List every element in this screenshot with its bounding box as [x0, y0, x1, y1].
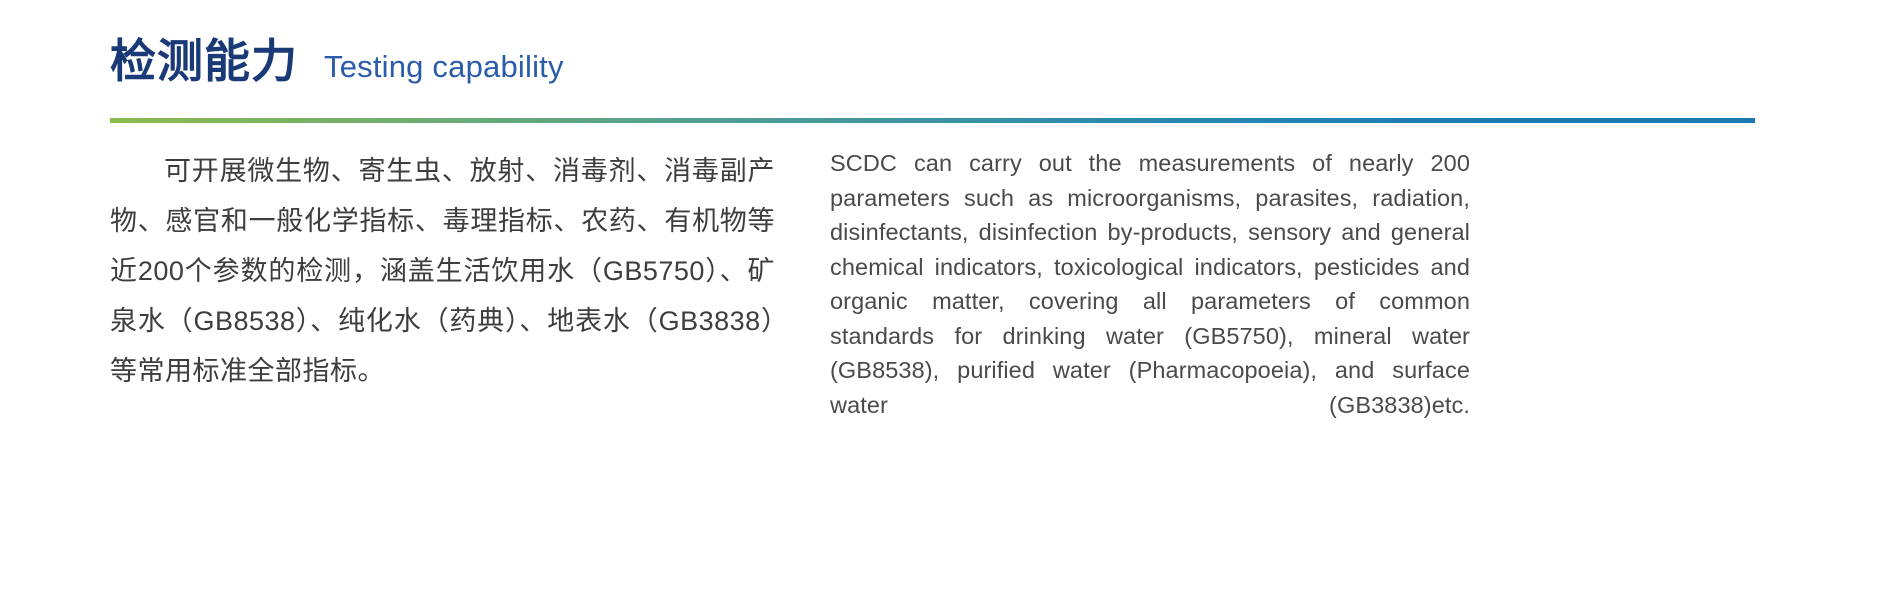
page-title-english: Testing capability: [324, 51, 564, 82]
content-columns: 可开展微生物、寄生虫、放射、消毒剂、消毒副产物、感官和一般化学指标、毒理指标、农…: [110, 146, 1780, 457]
body-paragraph-chinese: 可开展微生物、寄生虫、放射、消毒剂、消毒副产物、感官和一般化学指标、毒理指标、农…: [110, 146, 775, 396]
body-paragraph-english: SCDC can carry out the measurements of n…: [830, 146, 1470, 457]
page-title-chinese: 检测能力: [110, 38, 298, 84]
column-english: SCDC can carry out the measurements of n…: [830, 146, 1470, 457]
header-gradient-divider: [110, 118, 1755, 123]
column-chinese: 可开展微生物、寄生虫、放射、消毒剂、消毒副产物、感官和一般化学指标、毒理指标、农…: [110, 146, 775, 396]
section-header: 检测能力 Testing capability: [110, 38, 564, 84]
page-root: 检测能力 Testing capability 可开展微生物、寄生虫、放射、消毒…: [0, 0, 1890, 592]
